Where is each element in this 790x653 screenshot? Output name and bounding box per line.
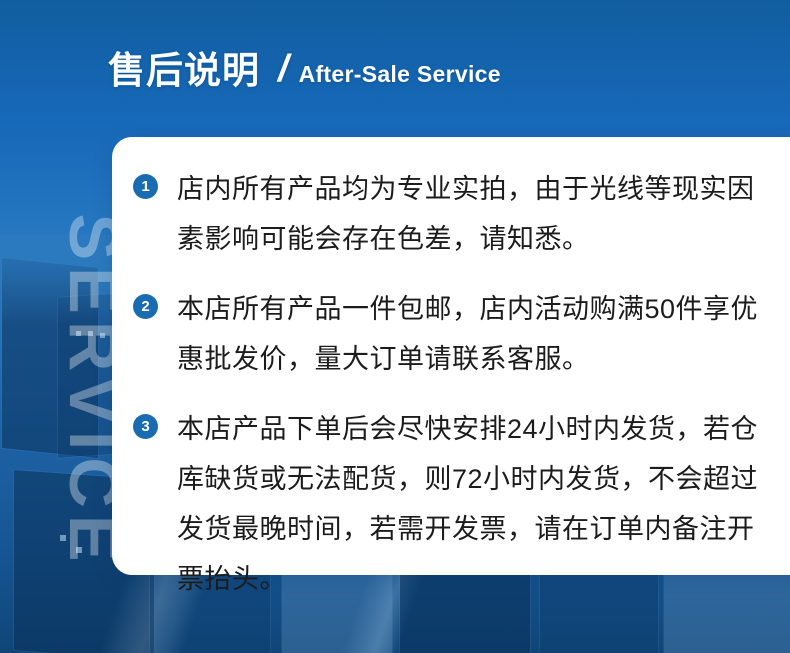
- page-title-cn: 售后说明: [108, 52, 260, 89]
- list-item-number-badge: 2: [133, 294, 158, 319]
- list-item-number-badge: 3: [133, 414, 158, 439]
- list-item-number-badge: 1: [133, 174, 158, 199]
- banner-header: 售后说明 / After-Sale Service: [108, 50, 501, 89]
- after-sale-service-banner: SERVICE 售后说明 / After-Sale Service 1 店内所有…: [0, 0, 790, 653]
- list-item: 1 店内所有产品均为专业实拍，由于光线等现实因素影响可能会存在色差，请知悉。: [133, 164, 790, 264]
- page-title-en: After-Sale Service: [299, 63, 501, 86]
- list-item-text: 本店所有产品一件包邮，店内活动购满50件享优惠批发价，量大订单请联系客服。: [177, 284, 767, 384]
- service-notes-card: 1 店内所有产品均为专业实拍，由于光线等现实因素影响可能会存在色差，请知悉。 2…: [112, 137, 790, 575]
- list-item-text: 店内所有产品均为专业实拍，由于光线等现实因素影响可能会存在色差，请知悉。: [177, 164, 767, 264]
- list-item-text: 本店产品下单后会尽快安排24小时内发货，若仓库缺货或无法配货，则72小时内发货，…: [177, 404, 767, 604]
- title-separator: /: [278, 50, 289, 88]
- list-item: 2 本店所有产品一件包邮，店内活动购满50件享优惠批发价，量大订单请联系客服。: [133, 284, 790, 384]
- list-item: 3 本店产品下单后会尽快安排24小时内发货，若仓库缺货或无法配货，则72小时内发…: [133, 404, 790, 604]
- service-notes-list: 1 店内所有产品均为专业实拍，由于光线等现实因素影响可能会存在色差，请知悉。 2…: [133, 164, 790, 604]
